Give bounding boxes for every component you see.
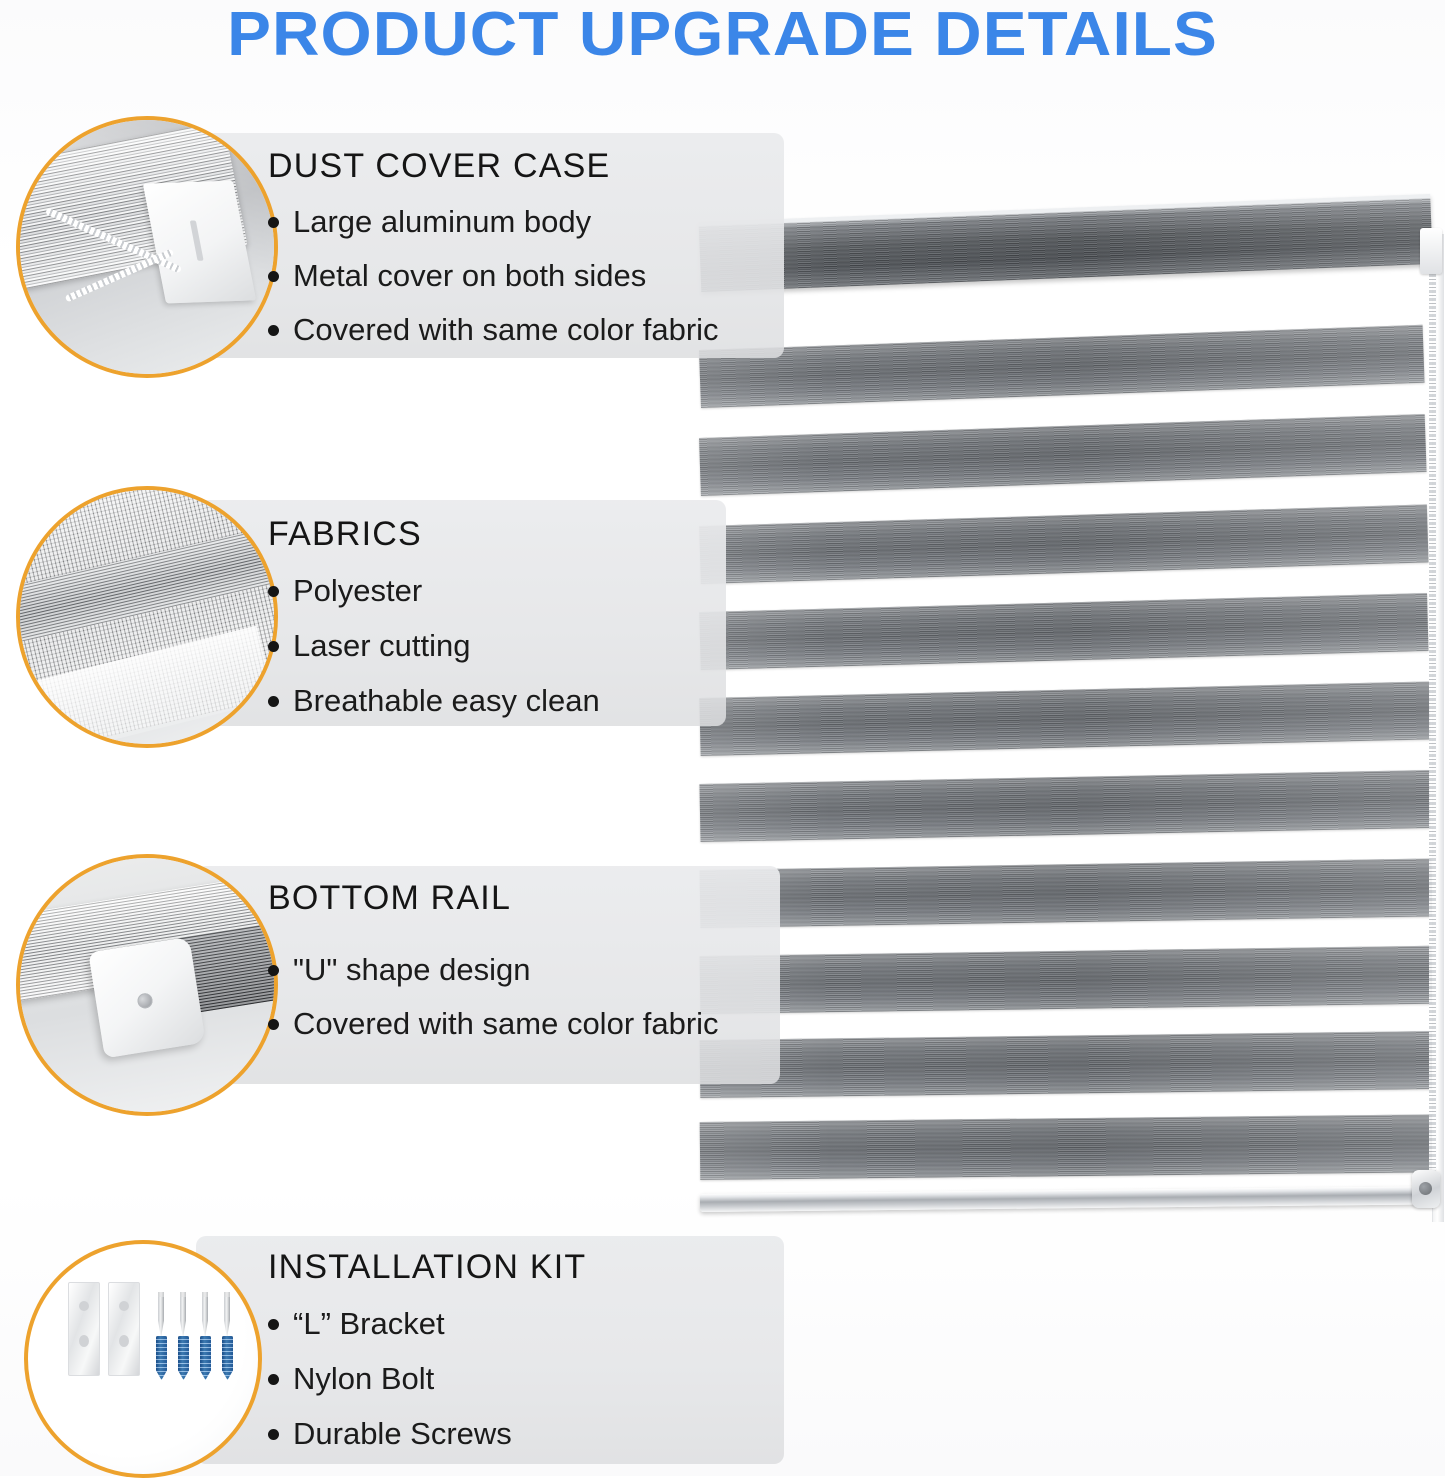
fabric-photo-fill	[20, 490, 274, 744]
bullet-dot-icon	[268, 1319, 279, 1330]
list-item: Durable Screws	[268, 1416, 586, 1452]
list-item: Covered with same color fabric	[268, 312, 719, 348]
bullet-text: Breathable easy clean	[293, 683, 600, 719]
chain-tensioner[interactable]	[1412, 1170, 1440, 1208]
bullet-text: Laser cutting	[293, 628, 471, 664]
fabric-band	[699, 414, 1427, 496]
blind-bottom-rail	[700, 1186, 1436, 1212]
screw-icon	[224, 1292, 230, 1338]
bottom-rail-photo-fill	[20, 858, 274, 1112]
screw-icon	[158, 1292, 164, 1338]
wall-anchor-icon	[156, 1336, 167, 1380]
bullet-text: Covered with same color fabric	[293, 1006, 719, 1042]
bullet-dot-icon	[268, 1429, 279, 1440]
list-item: Nylon Bolt	[268, 1361, 586, 1397]
fabric-band	[700, 859, 1433, 928]
photo-installation-kit	[24, 1240, 262, 1478]
l-bracket-icon	[108, 1282, 140, 1376]
screw-icon	[180, 1292, 186, 1338]
feature-heading-installation-kit: INSTALLATION KIT	[268, 1248, 586, 1287]
list-item: Breathable easy clean	[268, 683, 600, 719]
list-item: Polyester	[268, 573, 600, 609]
fabric-band	[699, 325, 1425, 408]
feature-bullets-fabrics: Polyester Laser cutting Breathable easy …	[268, 573, 600, 719]
wall-anchor-icon	[178, 1336, 189, 1380]
product-image-zebra-blind	[700, 222, 1440, 1232]
blind-headrail	[699, 194, 1433, 292]
list-item: Laser cutting	[268, 628, 600, 664]
fabric-band	[700, 946, 1433, 1014]
fabric-band	[699, 593, 1428, 670]
photo-bottom-rail-endcap-closeup	[16, 854, 278, 1116]
headrail-photo-fill	[20, 120, 274, 374]
bullet-dot-icon	[268, 271, 279, 282]
bullet-text: "U" shape design	[293, 952, 530, 988]
bullet-text: Polyester	[293, 573, 422, 609]
bullet-dot-icon	[268, 965, 279, 976]
fabric-band	[700, 1114, 1435, 1180]
photo-headrail-endcap-closeup	[16, 116, 278, 378]
wall-anchor-icon	[222, 1336, 233, 1380]
photo-fabric-mesh-closeup	[16, 486, 278, 748]
feature-heading-bottom-rail: BOTTOM RAIL	[268, 879, 719, 918]
feature-bullets-bottom-rail: "U" shape design Covered with same color…	[268, 952, 719, 1042]
mounting-bracket	[1420, 228, 1442, 274]
rail-endcap-graphic	[88, 937, 205, 1058]
feature-heading-fabrics: FABRICS	[268, 515, 600, 554]
l-bracket-icon	[68, 1282, 100, 1376]
bullet-text: Metal cover on both sides	[293, 258, 646, 294]
list-item: Metal cover on both sides	[268, 258, 719, 294]
feature-heading-dust-cover-case: DUST COVER CASE	[268, 147, 719, 186]
list-item: Large aluminum body	[268, 204, 719, 240]
fabric-band	[699, 681, 1430, 756]
bullet-dot-icon	[268, 1374, 279, 1385]
bullet-dot-icon	[268, 1019, 279, 1030]
bullet-dot-icon	[268, 696, 279, 707]
bullet-text: Covered with same color fabric	[293, 312, 719, 348]
kit-parts-graphic	[28, 1244, 258, 1474]
bullet-dot-icon	[268, 217, 279, 228]
fabric-band	[699, 770, 1430, 842]
bullet-text: Nylon Bolt	[293, 1361, 434, 1397]
page-title: PRODUCT UPGRADE DETAILS	[0, 0, 1445, 72]
bullet-text: “L” Bracket	[293, 1306, 445, 1342]
feature-bullets-dust-cover-case: Large aluminum body Metal cover on both …	[268, 204, 719, 348]
bullet-text: Large aluminum body	[293, 204, 591, 240]
fabric-band	[700, 1031, 1435, 1098]
bullet-dot-icon	[268, 586, 279, 597]
feature-bullets-installation-kit: “L” Bracket Nylon Bolt Durable Screws	[268, 1306, 586, 1452]
list-item: Covered with same color fabric	[268, 1006, 719, 1042]
fabric-band	[699, 504, 1428, 584]
list-item: “L” Bracket	[268, 1306, 586, 1342]
wall-anchor-icon	[200, 1336, 211, 1380]
bullet-dot-icon	[268, 641, 279, 652]
list-item: "U" shape design	[268, 952, 719, 988]
bullet-text: Durable Screws	[293, 1416, 512, 1452]
bullet-dot-icon	[268, 325, 279, 336]
screw-icon	[202, 1292, 208, 1338]
bead-chain[interactable]	[1429, 258, 1436, 1188]
blind-fabric-stack	[700, 222, 1440, 1232]
